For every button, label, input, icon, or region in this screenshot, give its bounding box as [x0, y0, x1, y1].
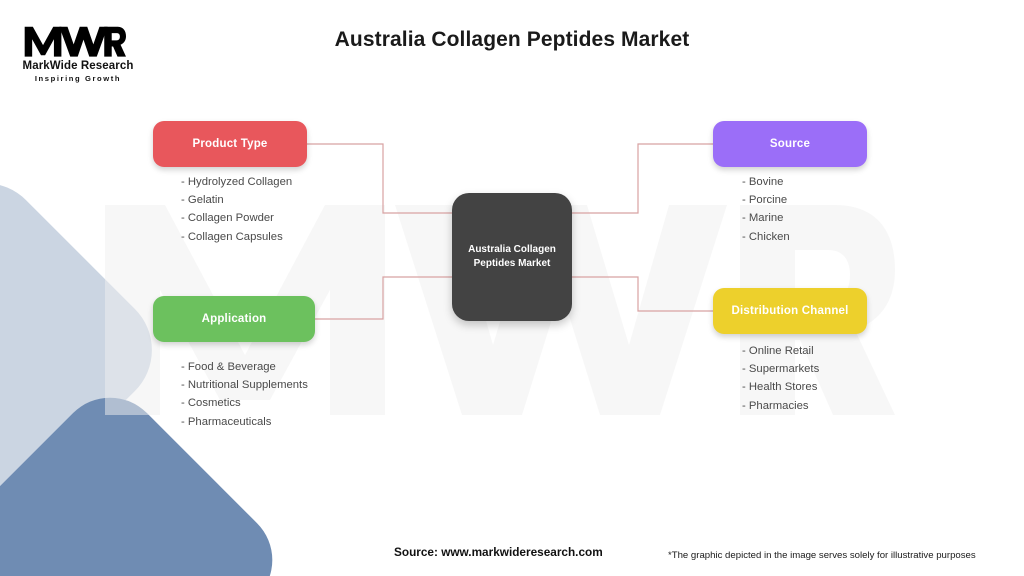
list-item: - Nutritional Supplements	[181, 376, 308, 394]
list-item: - Marine	[742, 209, 790, 227]
center-node-line2: Peptides Market	[474, 258, 551, 269]
node-distribution-channel-label: Distribution Channel	[731, 305, 848, 317]
list-item: - Cosmetics	[181, 394, 308, 412]
list-item: - Pharmacies	[742, 397, 819, 415]
list-item: - Online Retail	[742, 342, 819, 360]
center-node[interactable]: Australia Collagen Peptides Market	[452, 193, 572, 321]
list-source: - Bovine - Porcine - Marine - Chicken	[742, 173, 790, 246]
center-node-text: Australia Collagen Peptides Market	[468, 243, 556, 272]
connector-distribution	[572, 277, 713, 311]
list-item: - Bovine	[742, 173, 790, 191]
list-item: - Gelatin	[181, 191, 292, 209]
list-item: - Health Stores	[742, 378, 819, 396]
node-source[interactable]: Source	[713, 121, 867, 167]
connector-product-type	[307, 144, 452, 213]
list-item: - Hydrolyzed Collagen	[181, 173, 292, 191]
node-application-label: Application	[202, 313, 267, 325]
node-application[interactable]: Application	[153, 296, 315, 342]
list-item: - Chicken	[742, 228, 790, 246]
list-distribution-channel: - Online Retail - Supermarkets - Health …	[742, 342, 819, 415]
node-distribution-channel[interactable]: Distribution Channel	[713, 288, 867, 334]
connector-source	[572, 144, 713, 213]
list-item: - Collagen Powder	[181, 209, 292, 227]
node-product-type[interactable]: Product Type	[153, 121, 307, 167]
source-attribution: Source: www.markwideresearch.com	[394, 545, 603, 559]
list-item: - Porcine	[742, 191, 790, 209]
disclaimer-note: *The graphic depicted in the image serve…	[668, 550, 976, 561]
list-application: - Food & Beverage - Nutritional Suppleme…	[181, 358, 308, 431]
list-product-type: - Hydrolyzed Collagen - Gelatin - Collag…	[181, 173, 292, 246]
center-node-line1: Australia Collagen	[468, 244, 556, 255]
node-source-label: Source	[770, 138, 810, 150]
list-item: - Food & Beverage	[181, 358, 308, 376]
list-item: - Collagen Capsules	[181, 228, 292, 246]
list-item: - Supermarkets	[742, 360, 819, 378]
connector-application	[315, 277, 452, 319]
node-product-type-label: Product Type	[192, 138, 267, 150]
list-item: - Pharmaceuticals	[181, 413, 308, 431]
